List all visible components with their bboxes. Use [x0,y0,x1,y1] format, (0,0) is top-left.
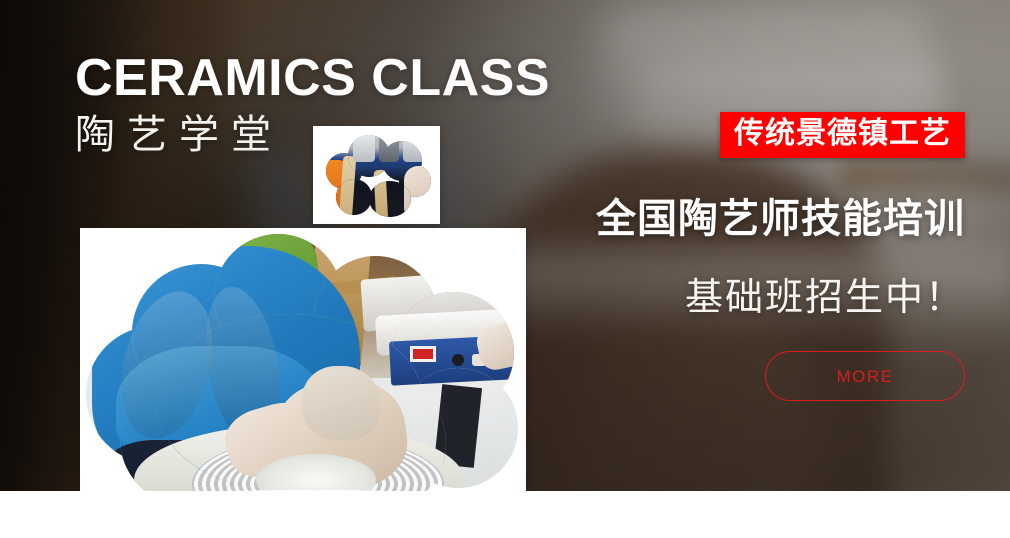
title-english: CERAMICS CLASS [75,52,550,105]
ceramics-class-banner: CERAMICS CLASS 陶艺学堂 [0,0,1010,538]
big-cloud-image [80,228,526,518]
promo-tag-badge: 传统景德镇工艺 [720,112,965,158]
promo-column: 传统景德镇工艺 全国陶艺师技能培训 基础班招生中！ MORE [596,112,965,401]
big-cloud-photo [80,228,526,518]
small-cloud-photo [313,126,440,224]
promo-headline: 全国陶艺师技能培训 [596,186,965,244]
bottom-white-band [0,491,1010,538]
more-button[interactable]: MORE [765,351,965,401]
small-cloud-image [313,126,440,224]
promo-subheadline: 基础班招生中！ [596,266,965,321]
